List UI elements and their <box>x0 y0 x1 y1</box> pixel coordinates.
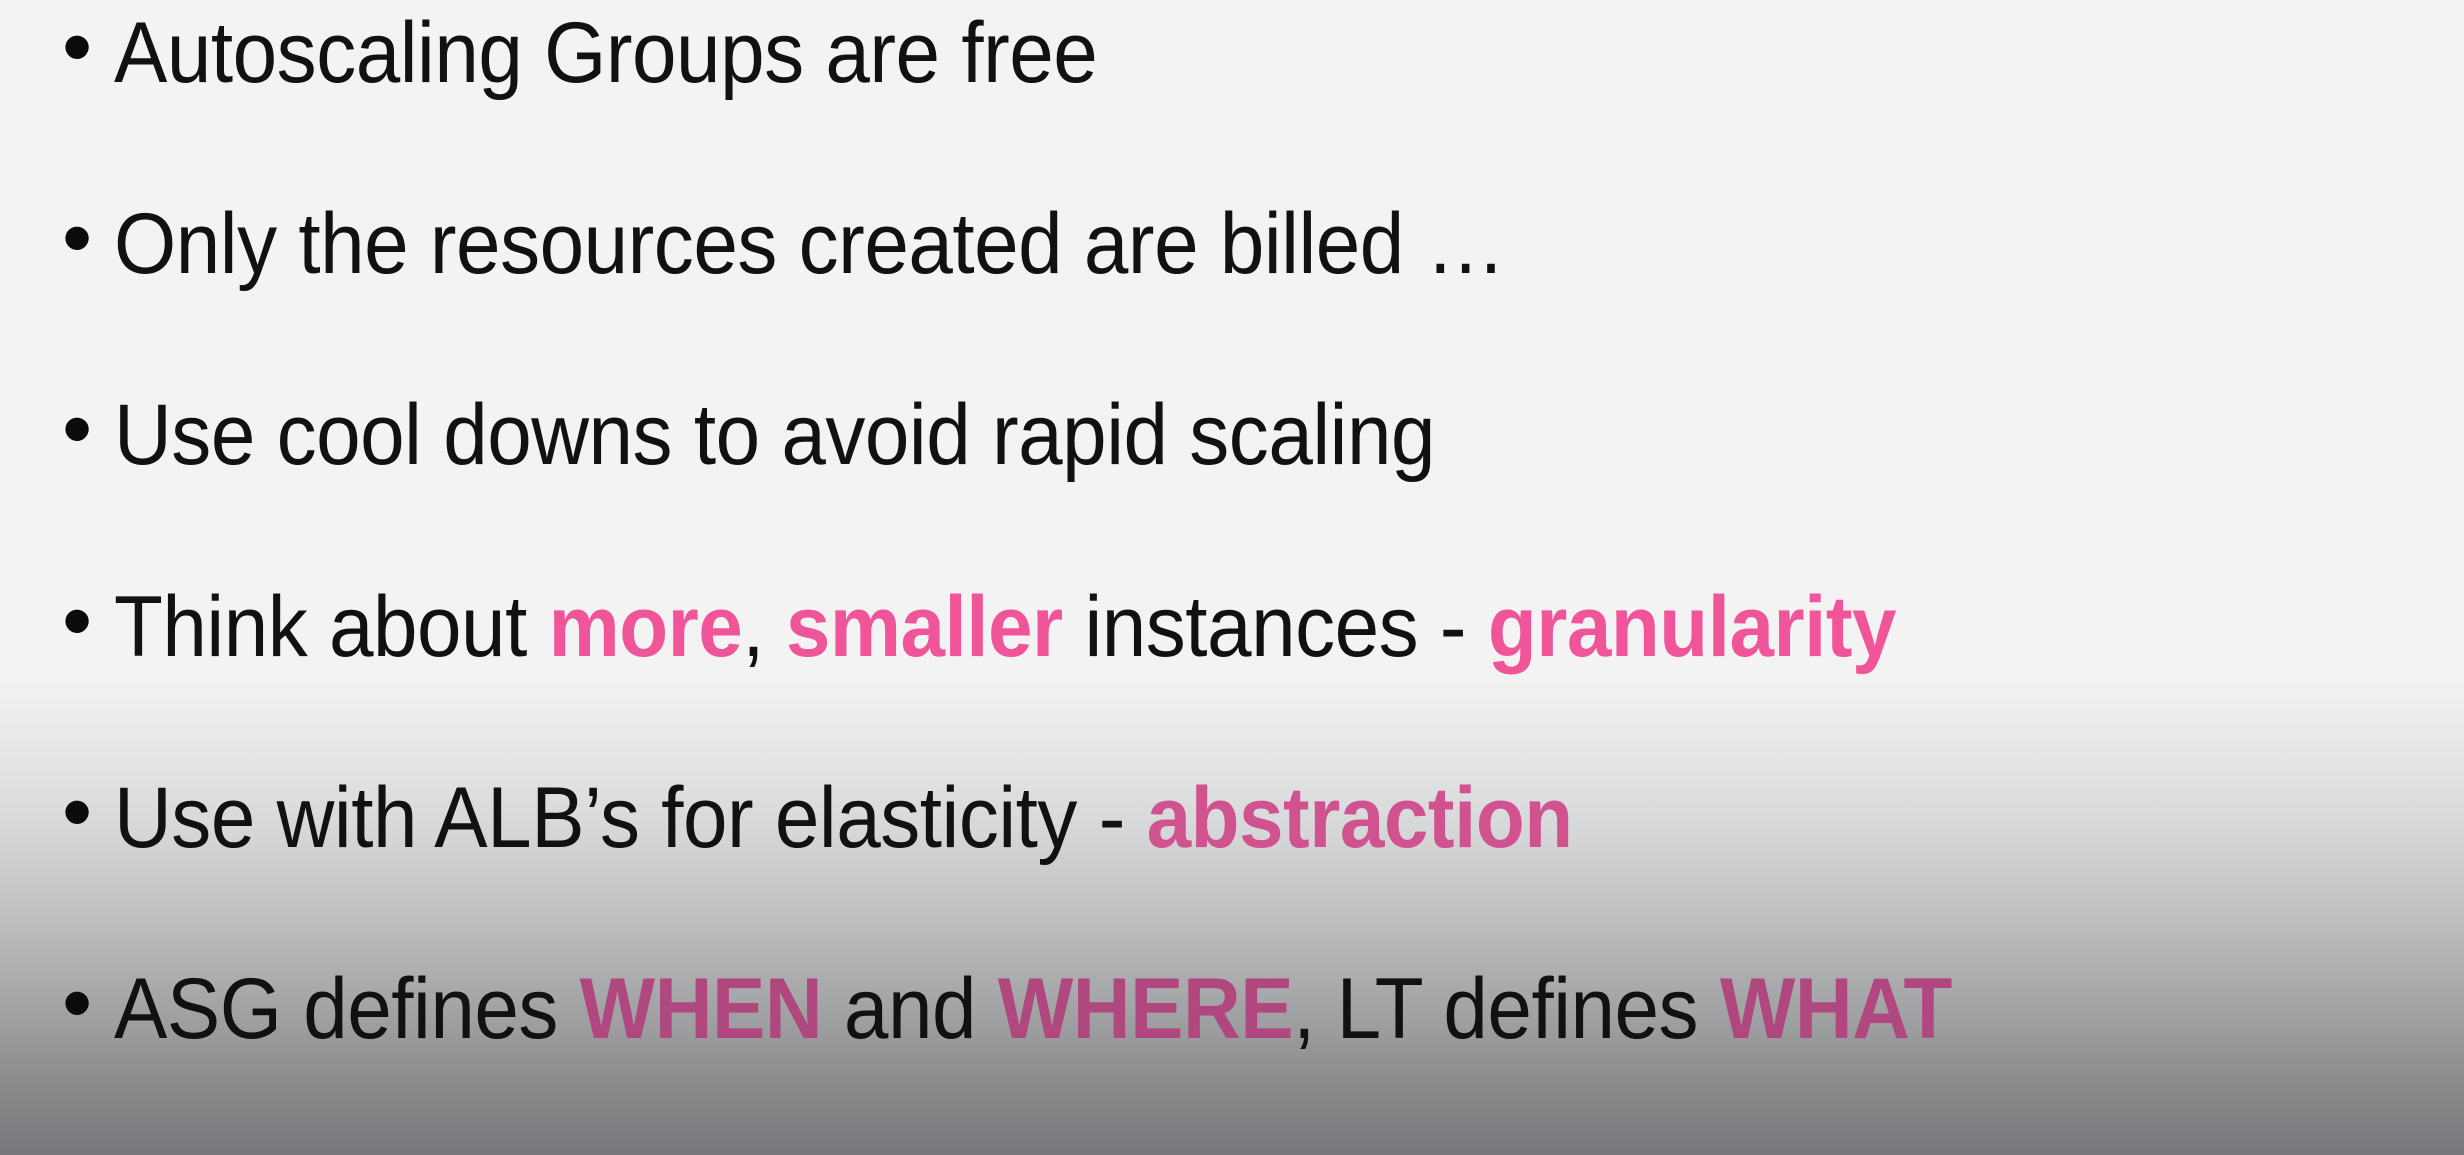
text-segment: , LT defines <box>1293 961 1720 1057</box>
bullet-text: ASG defines WHEN and WHERE, LT defines W… <box>114 964 2300 1054</box>
highlight-segment: WHEN <box>580 961 822 1057</box>
text-segment: Autoscaling Groups are free <box>114 5 1097 101</box>
bullet-item: •Use with ALB’s for elasticity - abstrac… <box>0 773 2464 964</box>
bullet-text: Only the resources created are billed … <box>114 199 2300 289</box>
bullet-item: •Autoscaling Groups are free <box>0 8 2464 199</box>
bullet-text: Think about more, smaller instances - gr… <box>114 582 2300 672</box>
bullet-text: Use cool downs to avoid rapid scaling <box>114 390 2300 480</box>
bullet-point-icon: • <box>62 578 114 664</box>
text-segment: , <box>742 579 786 675</box>
bullet-text: Autoscaling Groups are free <box>114 8 2300 98</box>
highlight-segment: more <box>549 579 743 675</box>
text-segment: ASG defines <box>114 961 580 1057</box>
bullet-point-icon: • <box>62 960 114 1046</box>
bullet-point-icon: • <box>62 769 114 855</box>
text-segment: Use cool downs to avoid rapid scaling <box>114 387 1435 483</box>
bullet-text: Use with ALB’s for elasticity - abstract… <box>114 773 2300 863</box>
bullet-point-icon: • <box>62 4 114 90</box>
text-segment: Use with ALB’s for elasticity - <box>114 770 1147 866</box>
highlight-segment: smaller <box>786 579 1063 675</box>
bullet-point-icon: • <box>62 195 114 281</box>
text-segment: Think about <box>114 579 549 675</box>
text-segment: instances - <box>1063 579 1488 675</box>
bullet-item: •ASG defines WHEN and WHERE, LT defines … <box>0 964 2464 1155</box>
bullet-point-icon: • <box>62 386 114 472</box>
bullet-item: •Think about more, smaller instances - g… <box>0 582 2464 773</box>
highlight-segment: WHERE <box>998 961 1293 1057</box>
text-segment: and <box>822 961 998 1057</box>
highlight-segment: abstraction <box>1147 770 1573 866</box>
bullet-list: •Autoscaling Groups are free•Only the re… <box>0 0 2464 1155</box>
highlight-segment: WHAT <box>1720 961 1952 1057</box>
presentation-slide: •Autoscaling Groups are free•Only the re… <box>0 0 2464 1155</box>
bullet-item: •Use cool downs to avoid rapid scaling <box>0 390 2464 581</box>
text-segment: Only the resources created are billed … <box>114 196 1505 292</box>
bullet-item: •Only the resources created are billed … <box>0 199 2464 390</box>
highlight-segment: granularity <box>1488 579 1896 675</box>
